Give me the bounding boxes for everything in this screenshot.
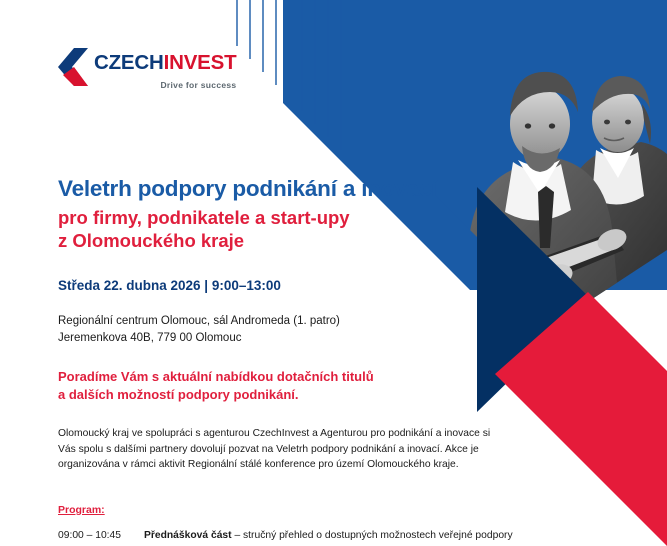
event-date-time: Středa 22. dubna 2026 | 9:00–13:00: [58, 278, 618, 293]
venue-line-1: Regionální centrum Olomouc, sál Andromed…: [58, 313, 618, 330]
schedule-row: 09:00 – 10:45 Přednášková část – stručný…: [58, 529, 618, 543]
logo-text: CZECHINVEST Drive for success: [94, 48, 236, 90]
content-column: Veletrh podpory podnikání a inovací pro …: [58, 176, 618, 546]
page-title: Veletrh podpory podnikání a inovací: [58, 176, 618, 203]
venue-line-2: Jeremenkova 40B, 779 00 Olomouc: [58, 330, 618, 347]
promo-statement: Poradíme Vám s aktuální nabídkou dotační…: [58, 368, 618, 403]
page-subtitle: pro firmy, podnikatele a start-upy z Olo…: [58, 206, 618, 253]
logo-word-czech: CZECH: [94, 51, 164, 74]
logo-wordmark: CZECHINVEST: [94, 53, 236, 74]
program-schedule: 09:00 – 10:45 Přednášková část – stručný…: [58, 529, 618, 546]
program-heading: Program:: [58, 504, 105, 516]
czechinvest-chevron-mark: [58, 48, 88, 86]
poster-canvas: CZECHINVEST Drive for success Veletrh po…: [0, 0, 667, 546]
venue-address: Regionální centrum Olomouc, sál Andromed…: [58, 313, 618, 346]
schedule-description: Přednášková část – stručný přehled o dos…: [144, 529, 618, 543]
promo-line-2: a dalších možností podpory podnikání.: [58, 386, 618, 404]
logo-word-invest: INVEST: [164, 51, 237, 74]
promo-line-1: Poradíme Vám s aktuální nabídkou dotační…: [58, 368, 618, 386]
schedule-time: 09:00 – 10:45: [58, 529, 144, 543]
invitation-paragraph: Olomoucký kraj ve spolupráci s agenturou…: [58, 426, 510, 474]
schedule-detail: – stručný přehled o dostupných možnostec…: [232, 530, 513, 541]
subtitle-line-1: pro firmy, podnikatele a start-upy: [58, 206, 618, 229]
vertical-line-pattern: [237, 0, 341, 150]
czechinvest-logo[interactable]: CZECHINVEST Drive for success: [58, 48, 236, 90]
logo-tagline: Drive for success: [94, 80, 236, 90]
schedule-title: Přednášková část: [144, 530, 232, 541]
subtitle-line-2: z Olomouckého kraje: [58, 229, 618, 252]
